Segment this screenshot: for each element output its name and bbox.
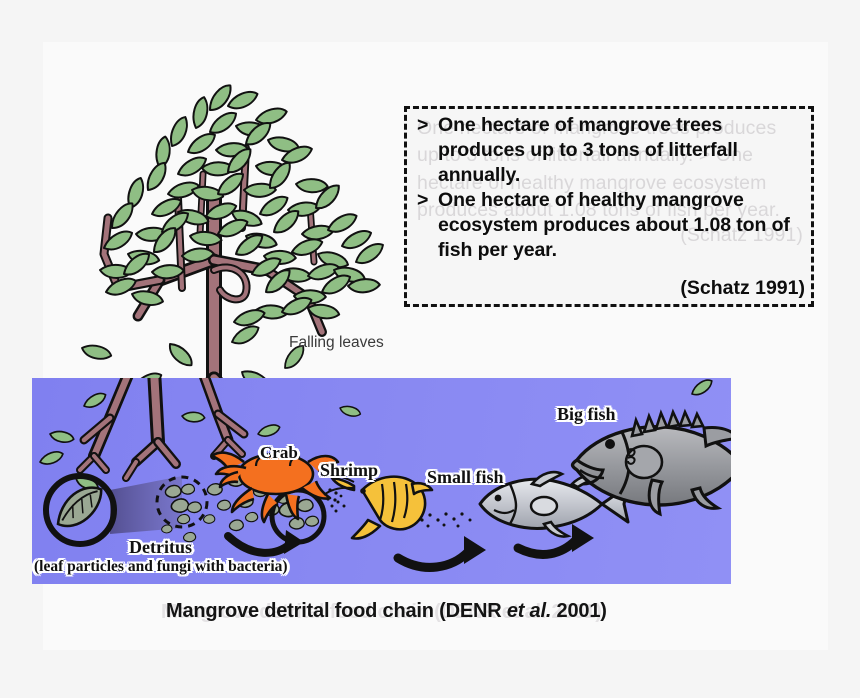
caption-text-before: Mangrove detrital food chain (DENR xyxy=(166,600,507,622)
fact-bullet-item: > One hectare of mangrove trees produces… xyxy=(417,113,803,187)
label-big-fish: Big fish xyxy=(557,404,616,425)
prop-roots xyxy=(80,378,244,478)
bacteria-magnifier xyxy=(272,488,342,542)
fact-callout-box: One hectare of mangrove trees produces u… xyxy=(404,106,814,307)
water-food-chain-panel: Crab Shrimp Small fish Big fish Detritus… xyxy=(32,378,731,584)
fact-citation: (Schatz 1991) xyxy=(680,277,805,300)
label-crab: Crab xyxy=(260,443,298,463)
bullet-marker-icon: > xyxy=(417,113,428,138)
caption-text-italic: et al. xyxy=(507,600,551,622)
arrow-shrimp-to-smallfish xyxy=(398,536,486,567)
label-detritus: Detritus xyxy=(129,537,192,558)
label-shrimp: Shrimp xyxy=(320,460,378,481)
caption-text-after: 2001) xyxy=(551,600,607,622)
fact-bullet-item: > One hectare of healthy mangrove ecosys… xyxy=(417,188,803,262)
food-chain-caption: Mangrove detrital food chain (DENR et al… xyxy=(166,600,607,623)
fact-bullet-text: One hectare of healthy mangrove ecosyste… xyxy=(438,189,790,261)
fact-bullet-list: > One hectare of mangrove trees produces… xyxy=(417,113,803,264)
detritus-magnifier xyxy=(46,476,207,544)
arrow-detritus-to-shrimp xyxy=(228,530,304,554)
label-detritus-subtitle: (leaf particles and fungi with bacteria) xyxy=(34,558,288,576)
fact-bullet-text: One hectare of mangrove trees produces u… xyxy=(438,114,738,186)
shrimp-illustration xyxy=(324,475,432,538)
bullet-marker-icon: > xyxy=(417,188,428,213)
falling-leaves-label: Falling leaves xyxy=(289,334,384,352)
label-small-fish: Small fish xyxy=(427,467,504,488)
